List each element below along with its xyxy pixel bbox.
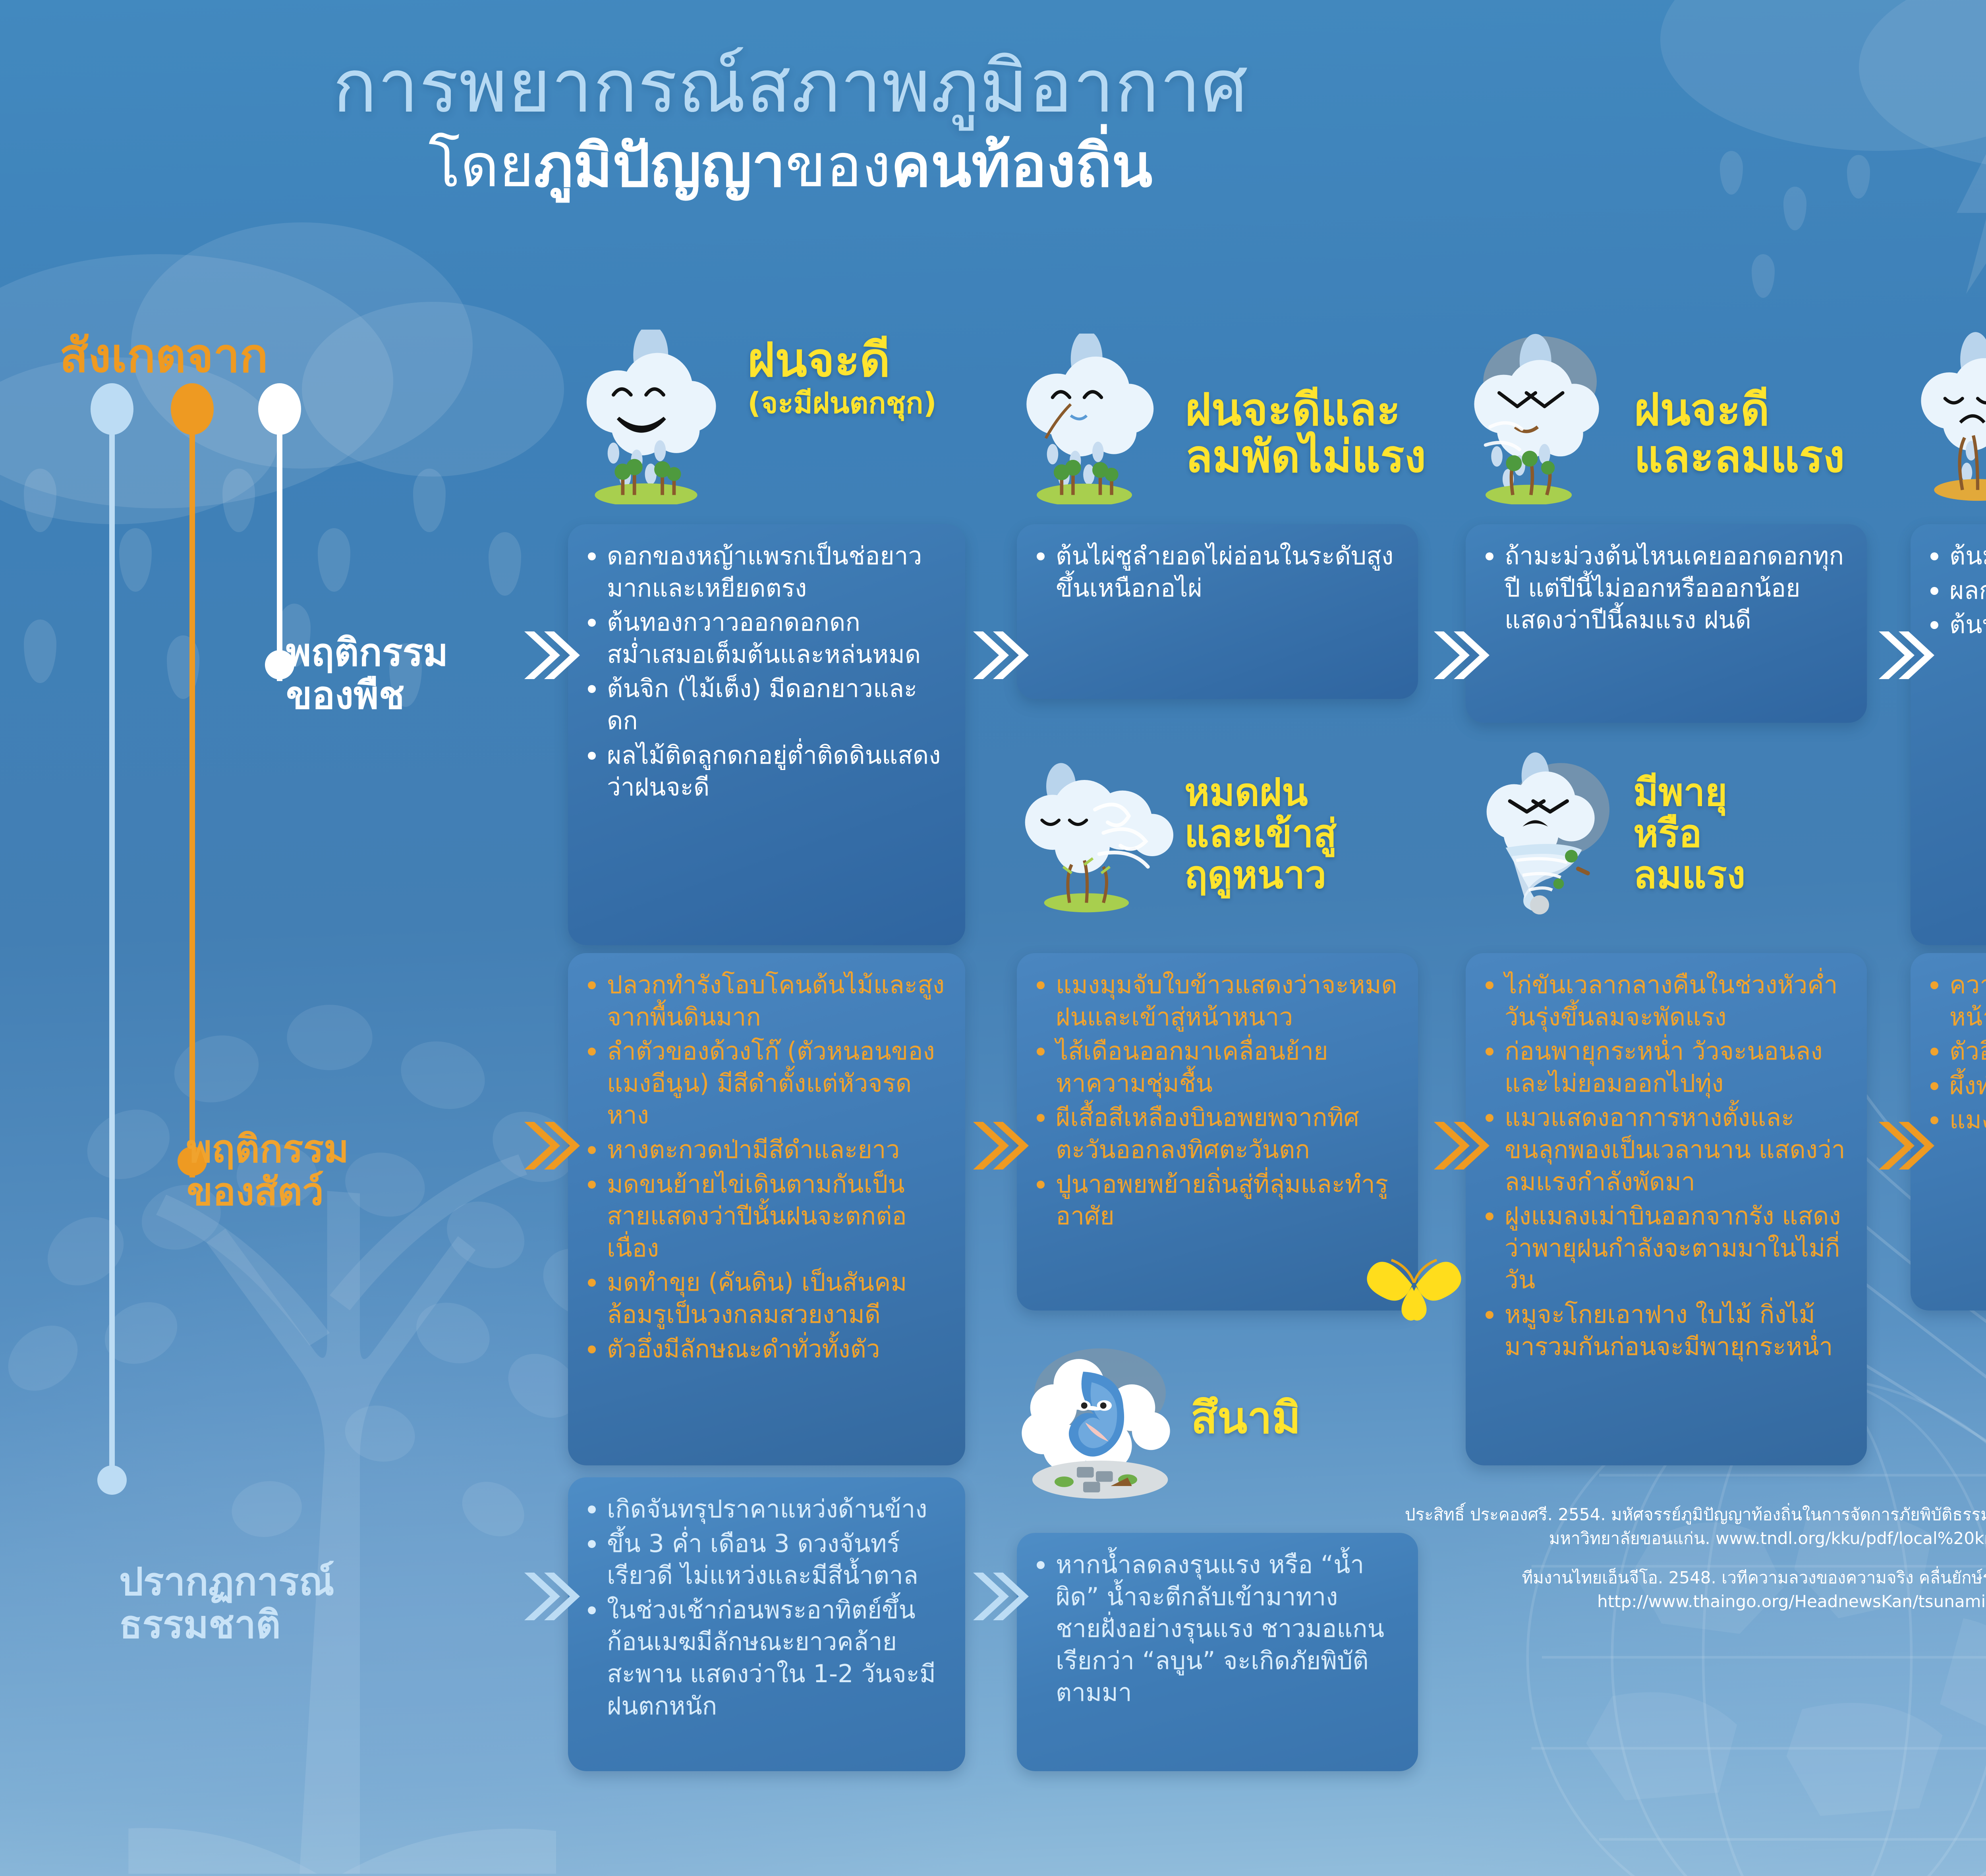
list-item: ต้นจิก (ไม้เต็ง) มีดอกยาวและดก — [585, 673, 947, 737]
raindrop-icon — [1847, 155, 1870, 199]
chevron-right-icon — [1875, 1120, 1934, 1172]
page-subtitle: โดยภูมิปัญญาของคนท้องถิ่น — [0, 133, 1581, 199]
sources-block: ที่มา : ประสิทธิ์ ประคองศรี. 2554. มหัศจ… — [1392, 1469, 1986, 1629]
card-plants-col4: ต้นมะขามออกดอกมาก ผลกะทกรกมีขนหุ้มมาก ต้… — [1911, 524, 1986, 945]
section-heading: สึนามิ — [1191, 1394, 1301, 1442]
card-nature-col1: เกิดจันทรุปราคาแหว่งด้านข้าง ขึ้น 3 ค่ำ … — [568, 1477, 965, 1771]
rail-stem — [189, 427, 195, 1177]
section-header-storm: มีพายุ หรือ ลมแรง — [1470, 747, 1891, 921]
column-subheading: (จะมีฝนตกชุก) — [748, 388, 937, 419]
sources-title: ที่มา : — [1392, 1469, 1986, 1496]
source-item: ประสิทธิ์ ประคองศรี. 2554. มหัศจรรย์ภูมิ… — [1392, 1503, 1986, 1550]
list-item: ต้นมะขามออกดอกมาก — [1928, 540, 1986, 572]
list-item: ลำตัวของด้วงโก๊ (ตัวหนอนของแมงอีนูน) มีส… — [585, 1035, 947, 1131]
chevron-right-icon — [1430, 1120, 1489, 1172]
row-label-plants: พฤติกรรม ของพืช — [286, 631, 448, 717]
list-item: หมูจะโกยเอาฟาง ใบไม้ กิ่งไม้ มารวมกันก่อ… — [1483, 1299, 1849, 1363]
sad-rain-cloud-icon — [1915, 330, 1986, 504]
raindrop-icon — [24, 469, 56, 532]
raindrop-icon — [1752, 254, 1775, 298]
chevron-right-icon — [520, 1120, 580, 1172]
section-header-tsunami: สึนามิ — [1017, 1342, 1438, 1509]
source-item: ทีมงานไทยเอ็นจีโอ. 2548. เวทีความลวงของค… — [1392, 1566, 1986, 1613]
chevron-right-icon — [520, 629, 580, 681]
card-animals-col2: แมงมุมจับใบข้าวแสดงว่าจะหมดฝนและเข้าสู่ห… — [1017, 953, 1418, 1310]
bullet-list: หากน้ำลดลงรุนแรง หรือ “น้ำผิด” น้ำจะตีกล… — [1034, 1549, 1400, 1709]
list-item: ผลกะทกรกมีขนหุ้มมาก — [1928, 575, 1986, 607]
section-heading: มีพายุ หรือ ลมแรง — [1633, 772, 1745, 896]
list-item: ต้นบกมีผลดกเต็มต้น — [1928, 609, 1986, 641]
bullet-list: ไก่ขันเวลากลางคืนในช่วงหัวค่ำ วันรุ่งขึ้… — [1483, 969, 1849, 1363]
list-item: ผีเสื้อสีเหลืองบินอพยพจากทิศตะวันออกลงทิ… — [1034, 1102, 1400, 1166]
page-title: การพยากรณ์สภาพภูมิอากาศ — [0, 48, 1581, 125]
chevron-right-icon — [969, 1120, 1029, 1172]
list-item: ไส้เดือนออกมาเคลื่อนย้ายหาความชุ่มชื้น — [1034, 1035, 1400, 1099]
tsunami-wave-icon — [1017, 1346, 1188, 1505]
list-item: ในช่วงเช้าก่อนพระอาทิตย์ขึ้นก้อนเมฆมีลัก… — [585, 1594, 947, 1722]
infographic-poster: การพยากรณ์สภาพภูมิอากาศ โดยภูมิปัญญาของค… — [0, 0, 1986, 1876]
column-heading: ฝนจะดี — [748, 332, 890, 387]
bullet-list: ดอกของหญ้าแพรกเป็นช่อยาวมากและเหยียดตรง … — [585, 540, 947, 803]
raindrop-icon — [222, 469, 255, 532]
bullet-list: ถ้ามะม่วงต้นไหนเคยออกดอกทุกปี แต่ปีนี้ไม… — [1483, 540, 1849, 636]
column-header-rain-good: ฝนจะดี (จะมีฝนตกชุก) — [572, 318, 977, 504]
rail-stem — [109, 427, 115, 1479]
lightning-bolt-icon — [1930, 127, 1986, 294]
background-cloud-icon — [1660, 0, 1986, 151]
subtitle-mid: ของ — [785, 131, 891, 201]
card-animals-col3: ไก่ขันเวลากลางคืนในช่วงหัวค่ำ วันรุ่งขึ้… — [1466, 953, 1867, 1465]
list-item: หางตะกวดป่ามีสีดำและยาว — [585, 1134, 947, 1166]
list-item: แมงมุมจับใบข้าวแสดงว่าจะหมดฝนและเข้าสู่ห… — [1034, 969, 1400, 1033]
row-label-phenomena: ปรากฏการณ์ ธรรมชาติ — [119, 1561, 334, 1646]
list-item: ขึ้น 3 ค่ำ เดือน 3 ดวงจันทร์เรียวดี ไม่แ… — [585, 1528, 947, 1592]
list-item: มดทำขุย (คันดิน) เป็นสันคมล้อมรูเป็นวงกล… — [585, 1266, 947, 1330]
list-item: ตัวอึ่งมีลักษณะดำทั่วทั้งตัว — [585, 1333, 947, 1365]
angry-rain-cloud-icon — [1470, 334, 1629, 504]
raindrop-icon — [1720, 151, 1743, 195]
chevron-right-icon — [969, 629, 1029, 681]
card-plants-col1: ดอกของหญ้าแพรกเป็นช่อยาวมากและเหยียดตรง … — [568, 524, 965, 945]
bullet-list: ควายเมื่อปล่อยจากคอกเอาเท้าหน้าขูดดินทิศ… — [1928, 969, 1986, 1136]
raindrop-icon — [1783, 187, 1806, 230]
column-heading: ฝนจะดีและ ลมพัดไม่แรง — [1185, 384, 1426, 483]
section-header-end-of-rain: หมดฝน และเข้าสู่ ฤดูหนาว — [1021, 747, 1442, 921]
list-item: ควายเมื่อปล่อยจากคอกเอาเท้าหน้าขูดดินทิศ… — [1928, 969, 1986, 1033]
list-item: ก่อนพายุกระหน่ำ วัวจะนอนลงและไม่ยอมออกไป… — [1483, 1035, 1849, 1099]
column-heading: ฝนจะดี และลมแรง — [1634, 384, 1845, 483]
list-item: ดอกของหญ้าแพรกเป็นช่อยาวมากและเหยียดตรง — [585, 540, 947, 604]
chevron-right-icon — [520, 1571, 580, 1622]
list-item: ปลวกทำรังโอบโคนต้นไม้และสูงจากพื้นดินมาก — [585, 969, 947, 1033]
tornado-cloud-icon — [1470, 751, 1629, 917]
raindrop-icon — [119, 528, 152, 592]
list-item: หากน้ำลดลงรุนแรง หรือ “น้ำผิด” น้ำจะตีกล… — [1034, 1549, 1400, 1709]
list-item: ต้นไผ่ชูลำยอดไผ่อ่อนในระดับสูงขึ้นเหนือก… — [1034, 540, 1400, 604]
raindrop-icon — [413, 469, 446, 532]
rail-dot-bottom — [97, 1465, 127, 1495]
background-cloud-icon — [302, 302, 564, 477]
list-item: ฝูงแมลงเม่าบินออกจากรัง แสดงว่าพายุฝนกำล… — [1483, 1200, 1849, 1296]
happy-rain-cloud-icon — [572, 330, 739, 504]
list-item: ถ้ามะม่วงต้นไหนเคยออกดอกทุกปี แต่ปีนี้ไม… — [1483, 540, 1849, 636]
raindrop-icon — [24, 620, 56, 683]
list-item: ต้นทองกวาวออกดอกดกสม่ำเสมอเต็มต้นและหล่น… — [585, 606, 947, 670]
subtitle-bold-2: คนท้องถิ่น — [891, 131, 1152, 201]
bullet-list: ต้นไผ่ชูลำยอดไผ่อ่อนในระดับสูงขึ้นเหนือก… — [1034, 540, 1400, 604]
card-plants-col2: ต้นไผ่ชูลำยอดไผ่อ่อนในระดับสูงขึ้นเหนือก… — [1017, 524, 1418, 699]
list-item: ปูนาอพยพย้ายถิ่นสู่ที่ลุ่มและทำรูอาศัย — [1034, 1168, 1400, 1232]
chevron-right-icon — [969, 1571, 1029, 1622]
list-item: ไก่ขันเวลากลางคืนในช่วงหัวค่ำ วันรุ่งขึ้… — [1483, 969, 1849, 1033]
bullet-list: ปลวกทำรังโอบโคนต้นไม้และสูงจากพื้นดินมาก… — [585, 969, 947, 1365]
background-cloud-icon — [1859, 0, 1986, 171]
list-item: ผึ้งทำรังต่ำ — [1928, 1070, 1986, 1102]
list-item: ผลไม้ติดลูกดกอยู่ต่ำติดดินแสดงว่าฝนจะดี — [585, 739, 947, 803]
butterfly-icon — [1362, 1231, 1466, 1334]
rail-stem — [277, 427, 282, 681]
bullet-list: ต้นมะขามออกดอกมาก ผลกะทกรกมีขนหุ้มมาก ต้… — [1928, 540, 1986, 641]
bullet-list: แมงมุมจับใบข้าวแสดงว่าจะหมดฝนและเข้าสู่ห… — [1034, 969, 1400, 1232]
section-heading: หมดฝน และเข้าสู่ ฤดูหนาว — [1184, 772, 1337, 896]
raindrop-icon — [318, 528, 350, 592]
column-header-rain-bad: ฝนจะไม่ดี (ฝนตกน้อย มีน้ำน้อย) — [1915, 318, 1986, 504]
column-header-rain-good-light-wind: ฝนจะดีและ ลมพัดไม่แรง — [1021, 318, 1438, 504]
sleeping-wind-cloud-icon — [1021, 751, 1180, 917]
list-item: มดขนย้ายไข่เดินตามกันเป็นสายแสดงว่าปีนั้… — [585, 1168, 947, 1264]
chevron-right-icon — [1875, 629, 1934, 681]
column-header-rain-good-strong-wind: ฝนจะดี และลมแรง — [1470, 318, 1887, 504]
chevron-right-icon — [1430, 629, 1489, 681]
card-nature-col2: หากน้ำลดลงรุนแรง หรือ “น้ำผิด” น้ำจะตีกล… — [1017, 1533, 1418, 1771]
list-item: ตัวอึ่งมีลักษณะดำไม่ทั่วตัว — [1928, 1035, 1986, 1067]
list-item: เกิดจันทรุปราคาแหว่งด้านข้าง — [585, 1493, 947, 1525]
observe-from-label: สังเกตจาก — [60, 318, 268, 392]
row-label-animals: พฤติกรรม ของสัตว์ — [187, 1128, 349, 1213]
raindrop-icon — [489, 532, 521, 596]
list-item: แมวแสดงอาการหางตั้งและขนลุกพองเป็นเวลานา… — [1483, 1102, 1849, 1198]
bullet-list: เกิดจันทรุปราคาแหว่งด้านข้าง ขึ้น 3 ค่ำ … — [585, 1493, 947, 1722]
title-block: การพยากรณ์สภาพภูมิอากาศ โดยภูมิปัญญาของค… — [0, 48, 1581, 199]
subtitle-prefix: โดย — [428, 131, 534, 201]
card-animals-col1: ปลวกทำรังโอบโคนต้นไม้และสูงจากพื้นดินมาก… — [568, 953, 965, 1465]
list-item: แมงดาวางไข่ต่ำ — [1928, 1104, 1986, 1136]
subtitle-bold-1: ภูมิปัญญา — [534, 131, 785, 201]
card-plants-col3: ถ้ามะม่วงต้นไหนเคยออกดอกทุกปี แต่ปีนี้ไม… — [1466, 524, 1867, 723]
crying-rain-cloud-icon — [1021, 334, 1180, 504]
